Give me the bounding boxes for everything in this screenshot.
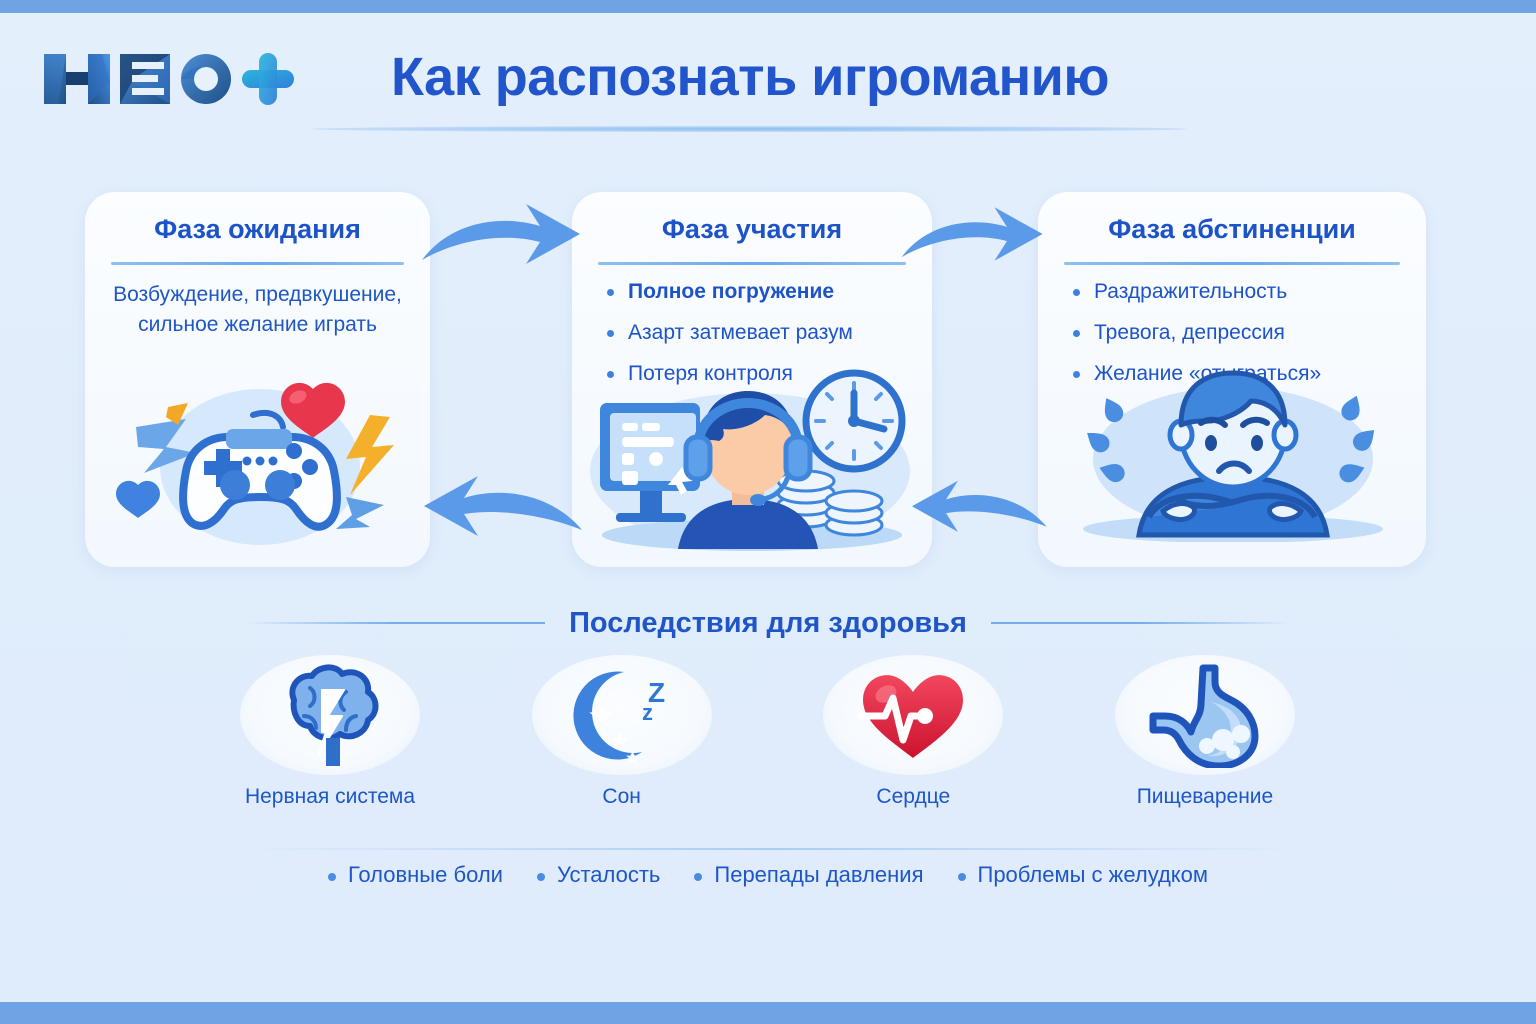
title-divider xyxy=(312,126,1188,132)
symptom-item: Усталость xyxy=(537,862,660,888)
section-rule-left xyxy=(245,622,545,624)
brain-lightning-icon xyxy=(270,662,390,768)
footer-divider xyxy=(238,848,1302,850)
top-accent-bar xyxy=(0,0,1536,13)
svg-text:z: z xyxy=(642,700,653,725)
page-title: Как распознать игроманию xyxy=(300,46,1200,108)
phase-card-illustration xyxy=(1038,367,1426,567)
symptom-list: Головные боли Усталость Перепады давлени… xyxy=(0,862,1536,888)
brand-logo[interactable] xyxy=(36,42,296,114)
icon-background xyxy=(823,655,1003,775)
list-item: Тревога, депрессия xyxy=(1068,319,1408,347)
phase-card-withdrawal[interactable]: Фаза абстиненции Раздражительность Трево… xyxy=(1038,192,1426,567)
gamer-headset-clock-coins-icon xyxy=(582,367,922,552)
symptom-item: Головные боли xyxy=(328,862,503,888)
bottom-accent-bar xyxy=(0,1002,1536,1024)
moon-zzz-icon: Z z xyxy=(562,662,682,768)
arrow-right-icon xyxy=(898,198,1048,270)
health-consequences-section: Последствия для здоровья xyxy=(0,600,1536,646)
section-title: Последствия для здоровья xyxy=(569,607,967,640)
phase-card-description: Возбуждение, предвкушение, сильное желан… xyxy=(99,280,416,341)
phase-card-title: Фаза ожидания xyxy=(85,214,430,245)
arrow-left-icon xyxy=(410,472,586,544)
icon-label: Сердце xyxy=(813,785,1013,809)
stomach-icon xyxy=(1145,662,1265,768)
icon-label: Сон xyxy=(522,785,722,809)
phase-card-title: Фаза абстиненции xyxy=(1038,214,1426,245)
card-divider xyxy=(111,262,404,265)
neo-plus-logo-icon xyxy=(36,42,296,114)
flow-arrow-forward-2 xyxy=(898,198,1048,275)
list-item: Азарт затмевает разум xyxy=(602,319,914,347)
phase-card-illustration xyxy=(572,367,932,567)
consequence-item-sleep[interactable]: Z z Сон xyxy=(522,655,722,840)
symptom-item: Проблемы с желудком xyxy=(958,862,1209,888)
infographic-page: Как распознать игроманию Фаза ожидания В… xyxy=(0,0,1536,1024)
icon-label: Нервная система xyxy=(230,785,430,809)
consequence-item-nervous-system[interactable]: Нервная система xyxy=(230,655,430,840)
phase-card-illustration xyxy=(85,367,430,567)
phase-card-title: Фаза участия xyxy=(572,214,932,245)
flow-arrow-back-2 xyxy=(900,472,1050,549)
sad-person-icon xyxy=(1067,367,1397,542)
card-divider xyxy=(598,262,906,265)
icon-background xyxy=(240,655,420,775)
symptom-item: Перепады давления xyxy=(694,862,923,888)
flow-arrow-forward-1 xyxy=(418,198,586,275)
icon-label: Пищеварение xyxy=(1105,785,1305,809)
consequence-item-digestion[interactable]: Пищеварение xyxy=(1105,655,1305,840)
heart-pulse-icon xyxy=(853,662,973,768)
section-header: Последствия для здоровья xyxy=(0,600,1536,646)
icon-background: Z z xyxy=(532,655,712,775)
gamepad-hearts-icon xyxy=(108,367,408,562)
phase-card-participation[interactable]: Фаза участия Полное погружение Азарт зат… xyxy=(572,192,932,567)
phase-card-expectation[interactable]: Фаза ожидания Возбуждение, предвкушение,… xyxy=(85,192,430,567)
list-item: Полное погружение xyxy=(602,278,914,306)
card-divider xyxy=(1064,262,1400,265)
section-rule-right xyxy=(991,622,1291,624)
flow-arrow-back-1 xyxy=(410,472,586,549)
list-item: Раздражительность xyxy=(1068,278,1408,306)
consequence-icons: Нервная система Z z Сон xyxy=(230,655,1305,840)
arrow-left-icon xyxy=(900,472,1050,544)
icon-background xyxy=(1115,655,1295,775)
phase-cards: Фаза ожидания Возбуждение, предвкушение,… xyxy=(0,192,1536,567)
consequence-item-heart[interactable]: Сердце xyxy=(813,655,1013,840)
arrow-right-icon xyxy=(418,198,586,270)
